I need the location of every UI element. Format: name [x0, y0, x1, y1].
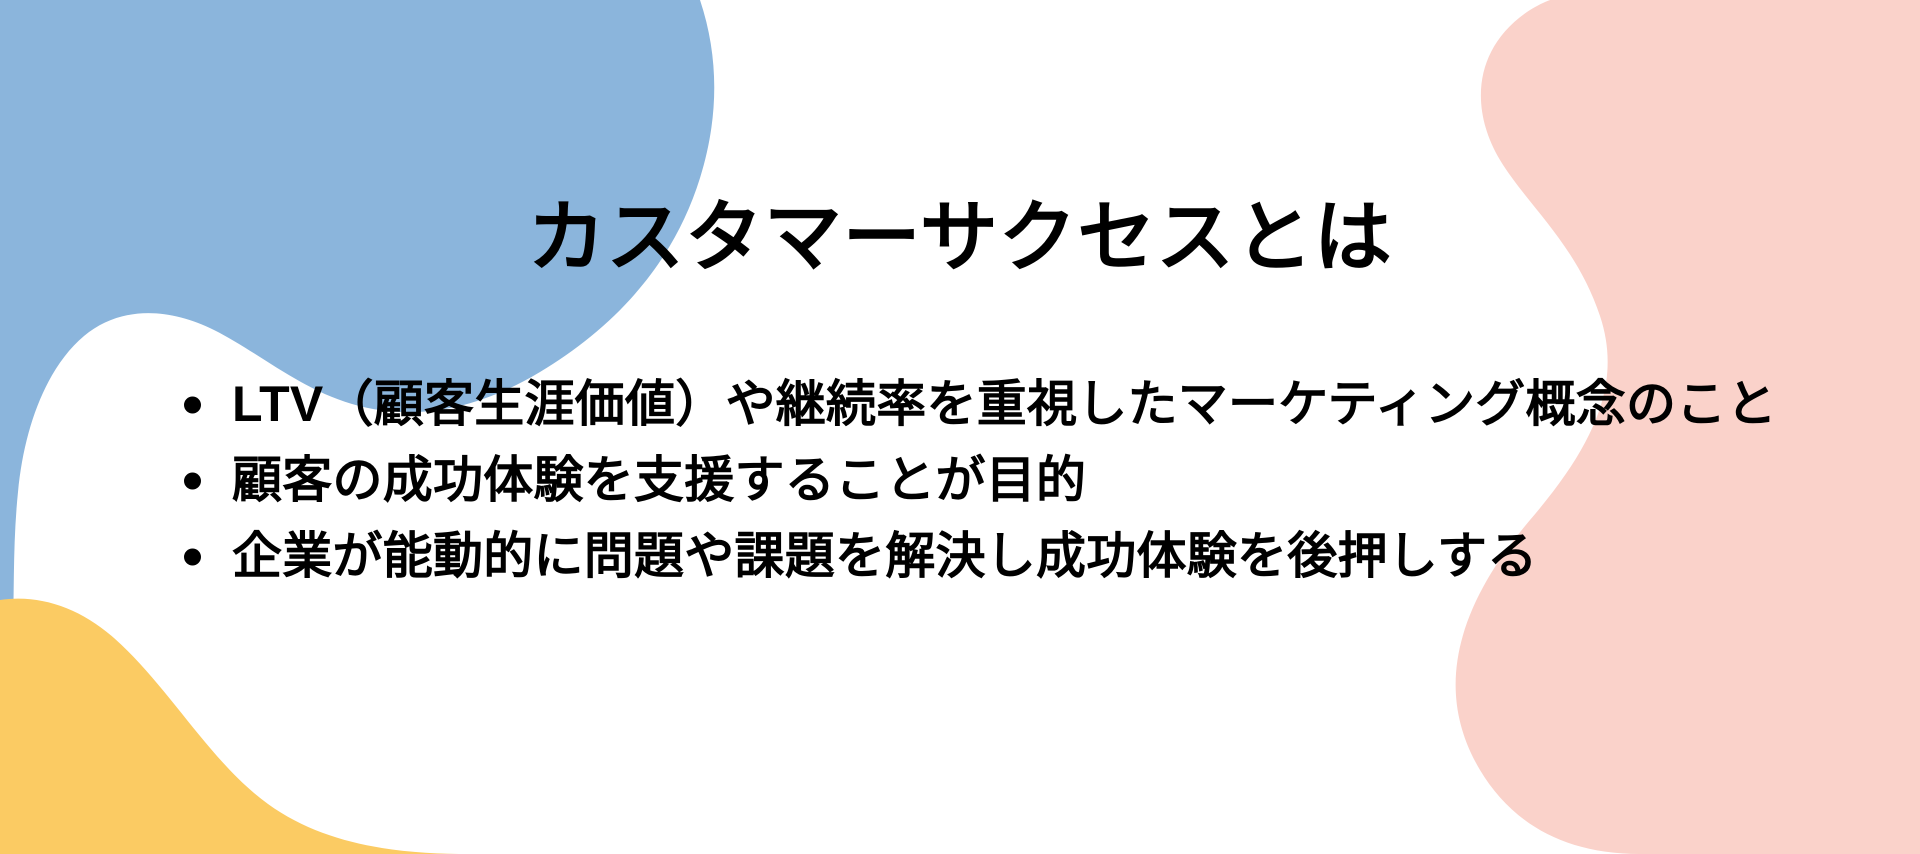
bullet-dot-icon: [184, 396, 201, 413]
slide-title: カスタマーサクセスとは: [0, 198, 1920, 276]
list-item-label: LTV（顧客生涯価値）や継続率を重視したマーケティング概念のこと: [232, 372, 1777, 437]
list-item: 顧客の成功体験を支援することが目的: [176, 448, 1916, 513]
list-item: 企業が能動的に問題や課題を解決し成功体験を後押しする: [176, 524, 1916, 589]
presentation-slide: カスタマーサクセスとは LTV（顧客生涯価値）や継続率を重視したマーケティング概…: [0, 0, 1920, 854]
bullet-dot-icon: [184, 472, 201, 489]
bullet-dot-icon: [184, 548, 201, 565]
slide-content: カスタマーサクセスとは LTV（顧客生涯価値）や継続率を重視したマーケティング概…: [0, 0, 1920, 854]
list-item-label: 顧客の成功体験を支援することが目的: [232, 448, 1086, 513]
list-item-label: 企業が能動的に問題や課題を解決し成功体験を後押しする: [232, 524, 1538, 589]
bullet-list: LTV（顧客生涯価値）や継続率を重視したマーケティング概念のこと 顧客の成功体験…: [176, 372, 1916, 600]
list-item: LTV（顧客生涯価値）や継続率を重視したマーケティング概念のこと: [176, 372, 1916, 437]
